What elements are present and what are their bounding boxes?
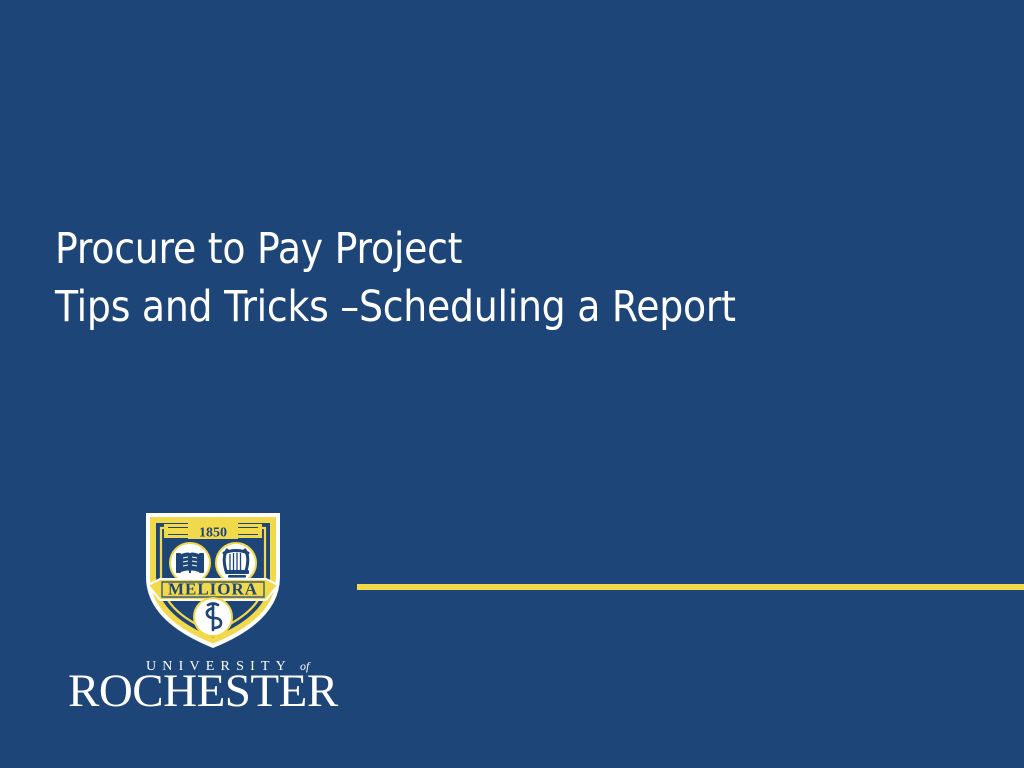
university-wordmark: UNIVERSITY of ROCHESTER xyxy=(60,648,360,720)
slide-title-line-2: Tips and Tricks –Scheduling a Report xyxy=(55,278,847,336)
gold-horizontal-rule xyxy=(357,584,1024,590)
university-shield-icon: 1850 xyxy=(138,505,288,653)
slide-title-line-1: Procure to Pay Project xyxy=(55,220,847,278)
presentation-slide: Procure to Pay Project Tips and Tricks –… xyxy=(0,0,1024,768)
shield-year-text: 1850 xyxy=(199,526,227,541)
shield-motto-text: MELIORA xyxy=(168,580,258,599)
wordmark-rochester-text: ROCHESTER xyxy=(68,665,339,717)
slide-title-block: Procure to Pay Project Tips and Tricks –… xyxy=(55,220,955,336)
university-logo-lockup: 1850 xyxy=(60,500,360,725)
